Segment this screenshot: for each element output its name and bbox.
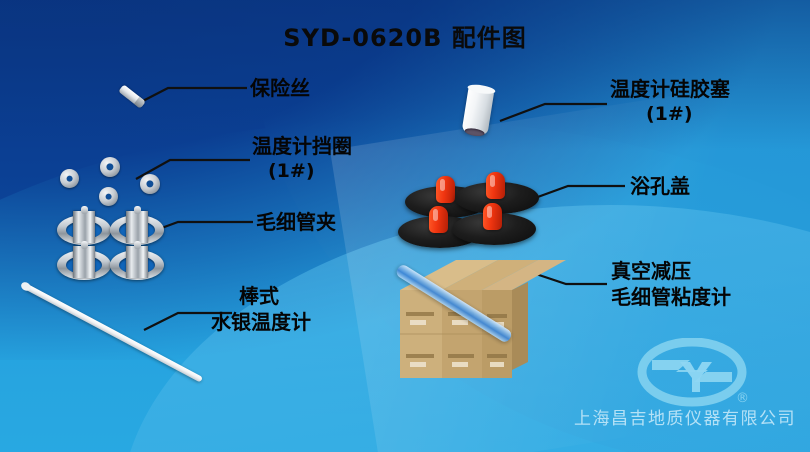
label-silicone-stopper-spec: (1#) (646, 101, 693, 127)
part-thermometer-ring (140, 174, 160, 194)
label-silicone-stopper: 温度计硅胶塞 (610, 76, 730, 102)
label-capillary-clamp: 毛细管夹 (256, 209, 336, 235)
part-thermometer-ring (60, 169, 79, 188)
part-thermometer-ring (100, 157, 120, 177)
part-bath-hole-cover (452, 203, 536, 247)
label-viscometer-line2: 毛细管粘度计 (611, 284, 731, 310)
leader-line-silicone-stopper (500, 104, 607, 121)
part-capillary-clamp (57, 244, 111, 284)
company-logo: ® (636, 338, 754, 410)
label-mercury-thermometer-line1: 棒式 (239, 283, 279, 309)
part-thermometer-ring (99, 187, 118, 206)
label-mercury-thermometer-line2: 水银温度计 (211, 309, 311, 335)
leader-line-fuse (137, 88, 247, 104)
part-capillary-clamp (110, 244, 164, 284)
company-name: 上海昌吉地质仪器有限公司 (560, 404, 810, 429)
label-viscometer-line1: 真空减压 (611, 258, 691, 284)
label-thermometer-ring: 温度计挡圈 (252, 133, 352, 159)
label-bath-hole-cover: 浴孔盖 (630, 173, 690, 199)
label-fuse: 保险丝 (250, 75, 310, 101)
label-thermometer-ring-spec: (1#) (268, 158, 315, 184)
accessory-diagram-poster: SYD-0620B 配件图 (0, 0, 810, 452)
leader-line-bath-cover (535, 186, 625, 198)
